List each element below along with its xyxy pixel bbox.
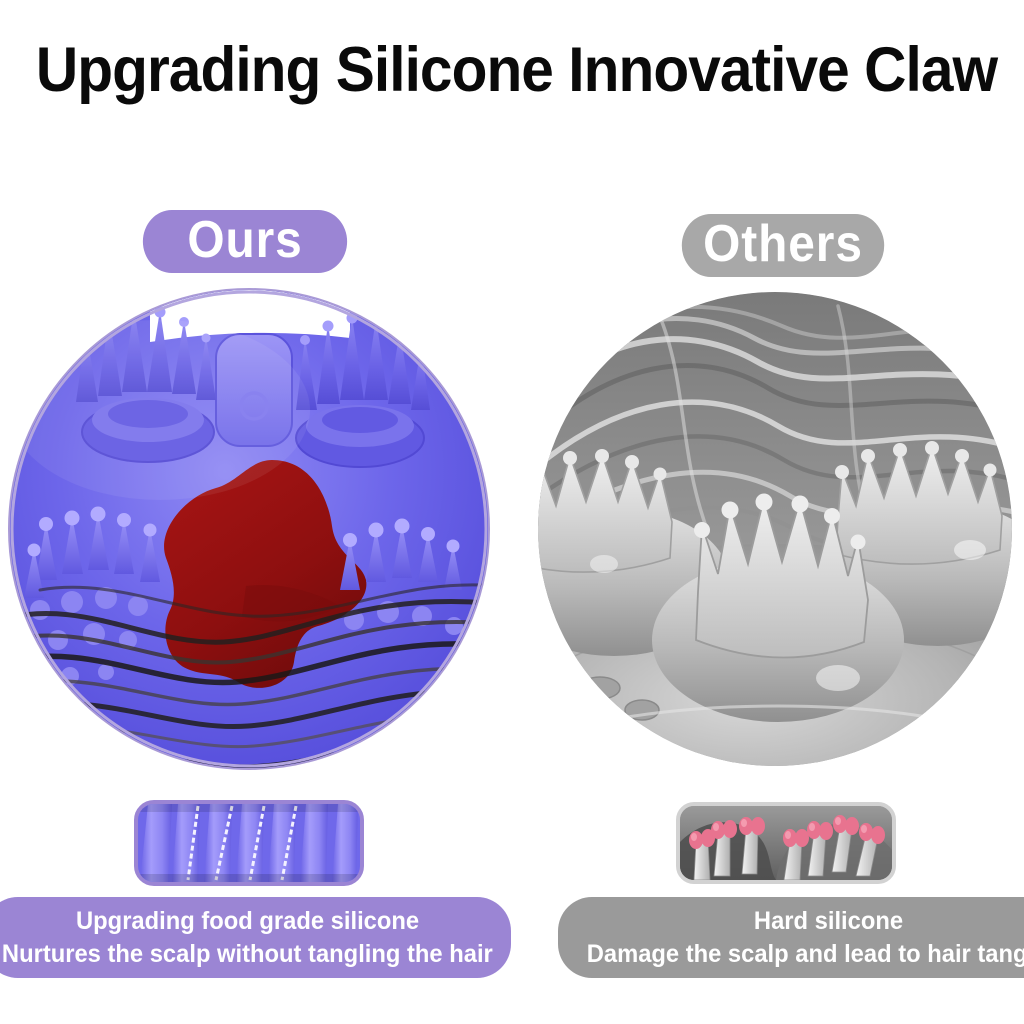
badge-others-label: Others	[703, 218, 863, 270]
page-title: Upgrading Silicone Innovative Claw	[36, 36, 988, 104]
ours-illustration-svg	[10, 290, 488, 768]
others-illustration-svg	[538, 292, 1012, 766]
product-image-ours	[8, 288, 490, 770]
detail-inset-ours	[134, 800, 364, 886]
badge-ours: Ours	[143, 210, 347, 273]
caption-others-line2: Damage the scalp and lead to hair tangli…	[586, 938, 1024, 971]
caption-ours-line1: Upgrading food grade silicone	[76, 905, 419, 938]
badge-ours-label: Ours	[187, 214, 302, 266]
caption-ours-line2: Nurtures the scalp without tangling the …	[2, 938, 493, 971]
badge-others: Others	[682, 214, 884, 277]
product-image-others	[538, 292, 1012, 766]
detail-inset-others	[676, 802, 896, 884]
caption-others: Hard silicone Damage the scalp and lead …	[558, 897, 1024, 978]
others-claws-svg	[680, 806, 892, 880]
caption-others-line1: Hard silicone	[753, 905, 902, 938]
ours-cones-svg	[138, 804, 360, 882]
caption-ours: Upgrading food grade silicone Nurtures t…	[0, 897, 511, 978]
comparison-infographic: Upgrading Silicone Innovative Claw Ours	[0, 0, 1024, 1024]
